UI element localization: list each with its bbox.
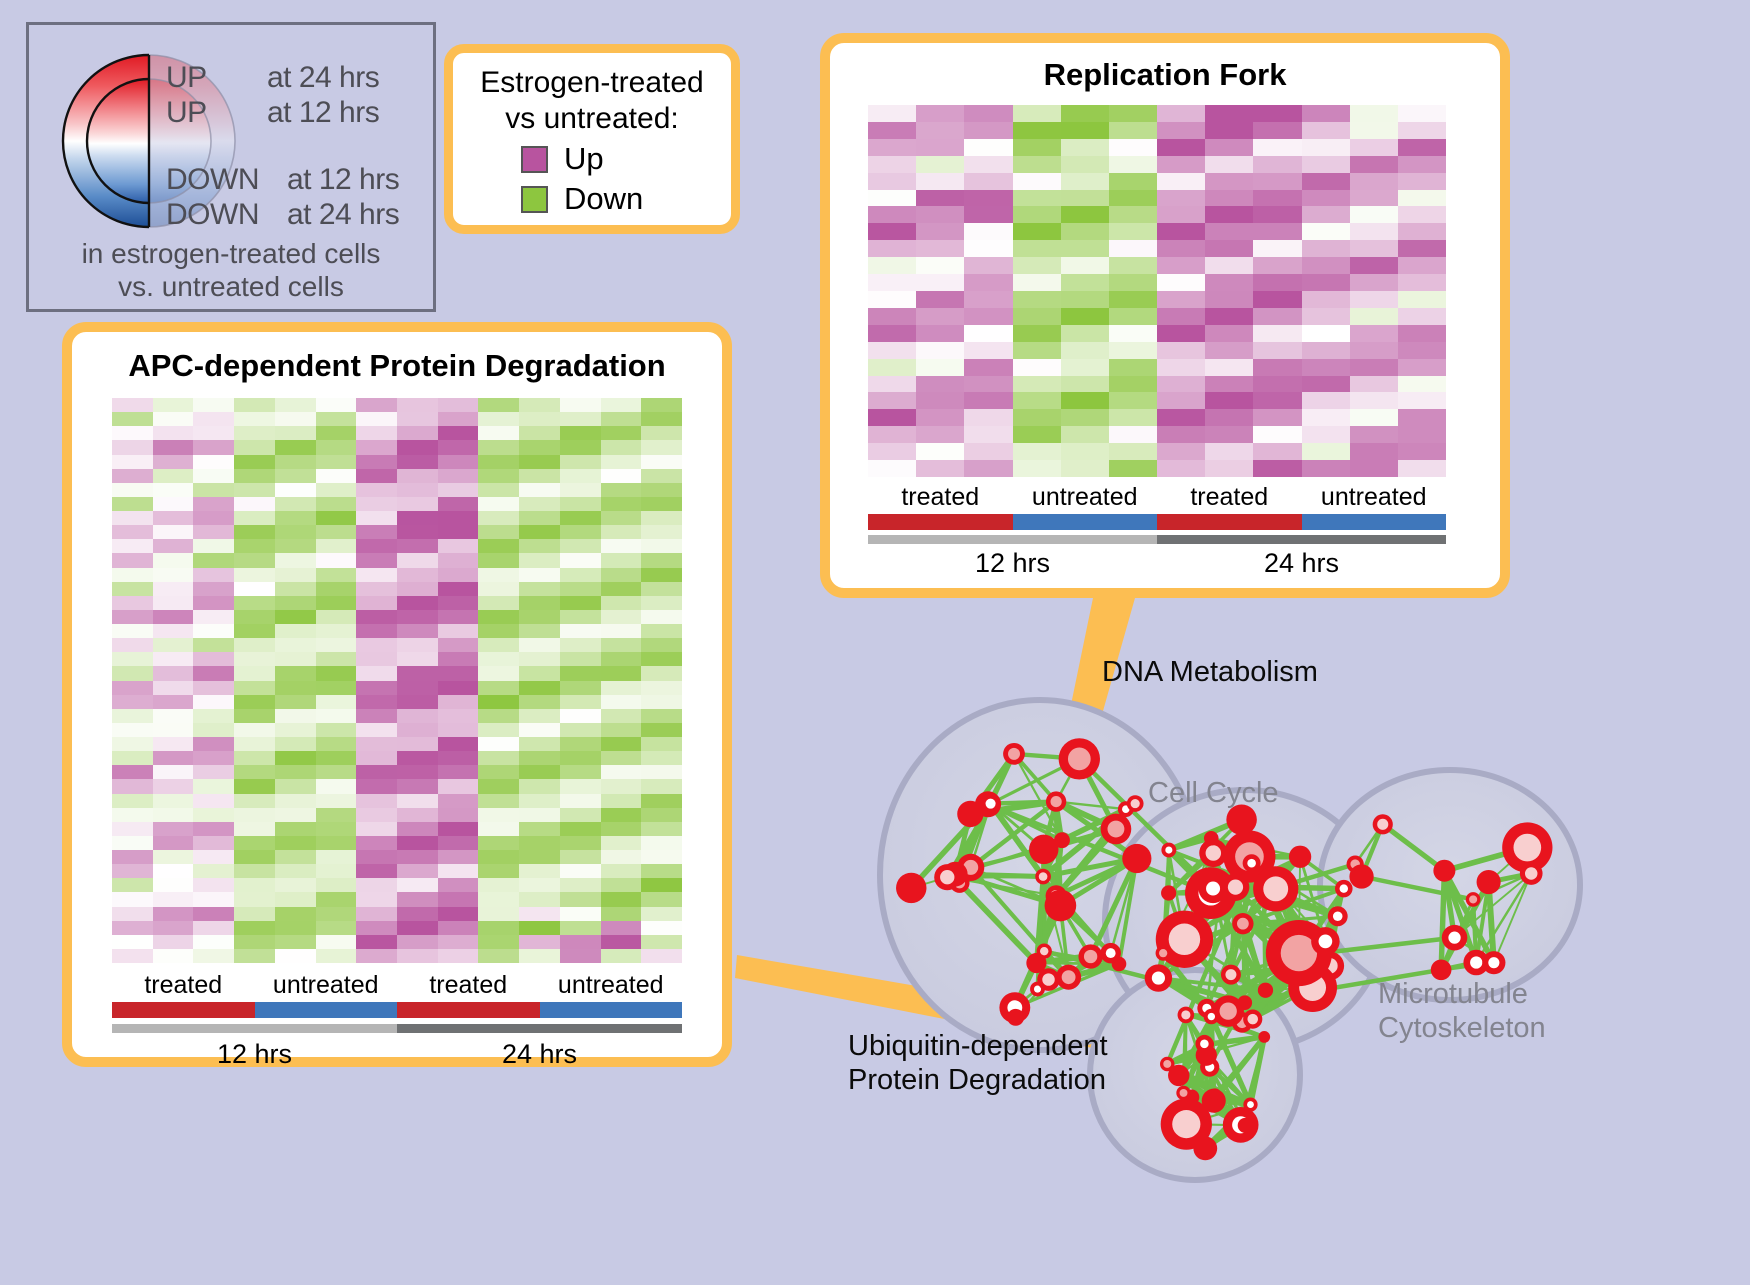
heatmap-cell <box>641 455 682 469</box>
heatmap-cell <box>356 709 397 723</box>
heatmap-cell <box>1302 206 1350 223</box>
heatmap-cell <box>275 681 316 695</box>
heatmap-replication-fork <box>868 105 1446 477</box>
heatmap-cell <box>1013 105 1061 122</box>
network-node[interactable] <box>1221 965 1241 985</box>
heatmap-cell <box>1253 223 1301 240</box>
heatmap-cell <box>438 949 479 963</box>
heatmap-cell <box>868 105 916 122</box>
heatmap-cell <box>1013 342 1061 359</box>
heatmap-cell <box>560 709 601 723</box>
heatmap-cell <box>1157 443 1205 460</box>
heatmap-cell <box>275 469 316 483</box>
node-inner-core <box>986 799 996 809</box>
heatmap-cell <box>519 935 560 949</box>
heatmap-cell <box>153 921 194 935</box>
network-node[interactable] <box>1156 946 1171 961</box>
heatmap-cell <box>275 878 316 892</box>
heatmap-cell <box>478 907 519 921</box>
network-node[interactable] <box>1204 1009 1219 1024</box>
node-inner-core <box>1333 911 1343 921</box>
heatmap-cell <box>234 638 275 652</box>
heatmap-cell <box>964 122 1012 139</box>
node-inner-core <box>1106 948 1116 958</box>
heatmap-cell <box>112 765 153 779</box>
heatmap-cell <box>153 850 194 864</box>
heatmap-cell <box>316 864 357 878</box>
heatmap-cell <box>964 392 1012 409</box>
network-node[interactable] <box>1477 870 1501 894</box>
heatmap-cell <box>519 568 560 582</box>
heatmap-cell <box>438 539 479 553</box>
network-node[interactable] <box>1168 1065 1189 1086</box>
heatmap-cell <box>868 359 916 376</box>
network-node[interactable] <box>1433 860 1455 882</box>
heatmap-cell <box>1157 173 1205 190</box>
heatmap-cell <box>275 836 316 850</box>
heatmap-cell <box>601 624 642 638</box>
network-node[interactable] <box>980 793 1001 814</box>
heatmap-cell <box>560 864 601 878</box>
heatmap-cell <box>153 483 194 497</box>
heatmap-cell <box>234 568 275 582</box>
heatmap-cell <box>438 935 479 949</box>
network-node[interactable] <box>1195 1035 1213 1053</box>
heatmap-cell <box>1302 460 1350 477</box>
heatmap-cell <box>1302 308 1350 325</box>
apc-title: APC-dependent Protein Degradation <box>72 348 722 384</box>
heatmap-cell <box>601 765 642 779</box>
heatmap-cell <box>478 836 519 850</box>
heatmap-cell <box>1398 426 1446 443</box>
network-node[interactable] <box>1101 814 1132 845</box>
heatmap-cell <box>193 469 234 483</box>
heatmap-cell <box>193 624 234 638</box>
heatmap-cell <box>560 511 601 525</box>
heatmap-cell <box>397 681 438 695</box>
heatmap-cell <box>868 308 916 325</box>
heatmap-cell <box>234 907 275 921</box>
heatmap-cell <box>964 291 1012 308</box>
heatmap-cell <box>868 409 916 426</box>
network-node[interactable] <box>1037 968 1060 991</box>
heatmap-cell <box>112 539 153 553</box>
heatmap-cell <box>1253 426 1301 443</box>
heatmap-cell <box>1253 308 1301 325</box>
heatmap-cell <box>601 497 642 511</box>
heatmap-cell <box>112 850 153 864</box>
heatmap-cell <box>316 596 357 610</box>
heatmap-cell <box>397 907 438 921</box>
heatmap-cell <box>478 553 519 567</box>
network-node[interactable] <box>1238 1118 1253 1133</box>
network-node[interactable] <box>1373 814 1393 834</box>
heatmap-cell <box>916 376 964 393</box>
heatmap-cell <box>397 737 438 751</box>
heatmap-cell <box>316 723 357 737</box>
heatmap-cell <box>316 610 357 624</box>
heatmap-cell <box>964 156 1012 173</box>
heatmap-cell <box>1013 443 1061 460</box>
heatmap-cell <box>234 539 275 553</box>
heatmap-cell <box>1157 240 1205 257</box>
network-node[interactable] <box>1349 864 1373 888</box>
network-node[interactable] <box>1222 873 1250 901</box>
heatmap-cell <box>1109 460 1157 477</box>
heatmap-cell <box>234 737 275 751</box>
heatmap-cell <box>316 553 357 567</box>
network-node[interactable] <box>1035 869 1051 885</box>
heatmap-cell <box>1302 173 1350 190</box>
heatmap-cell <box>601 794 642 808</box>
network-node[interactable] <box>1335 880 1353 898</box>
heatmap-cell <box>641 426 682 440</box>
node-inner-core <box>1169 924 1201 956</box>
group-label-1: untreated <box>255 971 398 1000</box>
network-node[interactable] <box>1209 1088 1221 1100</box>
network-node[interactable] <box>1466 892 1481 907</box>
heatmap-cell <box>438 666 479 680</box>
heatmap-cell <box>641 681 682 695</box>
heatmap-cell <box>275 850 316 864</box>
network-node[interactable] <box>1029 835 1058 864</box>
heatmap-cell <box>519 779 560 793</box>
node-inner-core <box>1159 949 1167 957</box>
heatmap-cell <box>478 808 519 822</box>
heatmap-cell <box>193 596 234 610</box>
heatmap-cell <box>438 398 479 412</box>
network-node[interactable] <box>1520 862 1543 885</box>
heatmap-cell <box>1398 139 1446 156</box>
heatmap-cell <box>868 156 916 173</box>
network-node[interactable] <box>934 864 960 890</box>
heatmap-cell <box>964 240 1012 257</box>
network-node[interactable] <box>1178 1007 1195 1024</box>
heatmap-cell <box>1061 223 1109 240</box>
heatmap-cell <box>397 426 438 440</box>
heatmap-cell <box>1109 308 1157 325</box>
node-inner-core <box>1206 845 1221 860</box>
heatmap-cell <box>560 568 601 582</box>
heatmap-cell <box>1109 291 1157 308</box>
heatmap-cell <box>1302 223 1350 240</box>
heatmap-cell <box>1205 308 1253 325</box>
heatmap-cell <box>1398 223 1446 240</box>
heatmap-cell <box>193 836 234 850</box>
heatmap-cell <box>275 794 316 808</box>
heatmap-cell <box>1061 156 1109 173</box>
node-inner-core <box>1225 969 1236 980</box>
heatmap-cell <box>193 709 234 723</box>
heatmap-cell <box>964 460 1012 477</box>
heatmap-cell <box>519 751 560 765</box>
network-node[interactable] <box>1311 927 1339 955</box>
heatmap-cell <box>397 666 438 680</box>
network-node[interactable] <box>1212 995 1244 1027</box>
heatmap-cell <box>519 666 560 680</box>
heatmap-cell <box>641 582 682 596</box>
heatmap-cell <box>1253 206 1301 223</box>
network-node[interactable] <box>1127 795 1144 812</box>
heatmap-cell <box>356 525 397 539</box>
heatmap-cell <box>193 949 234 963</box>
heatmap-cell <box>1061 139 1109 156</box>
heatmap-cell <box>519 553 560 567</box>
heatmap-cell <box>519 455 560 469</box>
network-node[interactable] <box>1100 943 1121 964</box>
heatmap-cell <box>560 440 601 454</box>
heatmap-cell <box>1253 274 1301 291</box>
heatmap-cell <box>964 308 1012 325</box>
network-node[interactable] <box>1046 791 1066 811</box>
heatmap-cell <box>641 850 682 864</box>
heatmap-cell <box>153 751 194 765</box>
heatmap-cell <box>1109 257 1157 274</box>
heatmap-cell <box>356 666 397 680</box>
heatmap-cell <box>356 935 397 949</box>
network-node[interactable] <box>1176 1086 1190 1100</box>
heatmap-cell <box>397 779 438 793</box>
network-node[interactable] <box>1243 854 1261 872</box>
circle-legend-footer: in estrogen-treated cells vs. untreated … <box>29 237 433 303</box>
heatmap-cell <box>478 794 519 808</box>
heatmap-cell <box>193 553 234 567</box>
heatmap-cell <box>316 511 357 525</box>
heatmap-cell <box>1109 392 1157 409</box>
heatmap-cell <box>356 850 397 864</box>
heatmap-cell <box>397 794 438 808</box>
heatmap-cell <box>1013 409 1061 426</box>
heatmap-cell <box>478 497 519 511</box>
heatmap-cell <box>1061 105 1109 122</box>
heatmap-cell <box>438 455 479 469</box>
heatmap-cell <box>397 935 438 949</box>
network-node[interactable] <box>1045 890 1077 922</box>
heatmap-cell <box>1157 105 1205 122</box>
heatmap-cell <box>601 483 642 497</box>
network-node[interactable] <box>1078 944 1102 968</box>
heatmap-cell <box>1157 122 1205 139</box>
network-node[interactable] <box>1059 738 1100 779</box>
network-node[interactable] <box>1243 1097 1257 1111</box>
heatmap-cell <box>1398 342 1446 359</box>
heatmap-cell <box>1061 257 1109 274</box>
node-inner-core <box>1247 859 1256 868</box>
heatmap-cell <box>1109 325 1157 342</box>
heatmap-cell <box>519 878 560 892</box>
heatmap-cell <box>193 455 234 469</box>
network-node[interactable] <box>1258 983 1273 998</box>
replication-group-labels: treated untreated treated untreated <box>868 483 1446 512</box>
heatmap-cell <box>964 342 1012 359</box>
heatmap-cell <box>478 525 519 539</box>
heatmap-cell <box>356 652 397 666</box>
heatmap-cell <box>519 610 560 624</box>
node-inner-core <box>1172 1110 1200 1138</box>
heatmap-cell <box>316 751 357 765</box>
heatmap-cell <box>478 652 519 666</box>
heatmap-cell <box>1350 359 1398 376</box>
heatmap-cell <box>356 864 397 878</box>
network-node[interactable] <box>1204 831 1219 846</box>
heatmap-cell <box>916 240 964 257</box>
heatmap-cell <box>397 610 438 624</box>
heatmap-cell <box>316 469 357 483</box>
heatmap-cell <box>1061 392 1109 409</box>
network-node[interactable] <box>1122 844 1151 873</box>
heatmap-cell <box>153 681 194 695</box>
heatmap-cell <box>234 921 275 935</box>
heatmap-cell <box>112 455 153 469</box>
heatmap-cell <box>112 935 153 949</box>
network-node[interactable] <box>1232 913 1253 934</box>
heatmap-cell <box>478 596 519 610</box>
node-inner-core <box>1051 796 1062 807</box>
heatmap-cell <box>316 907 357 921</box>
heatmap-cell <box>1253 460 1301 477</box>
network-node[interactable] <box>1482 951 1505 974</box>
heatmap-cell <box>1157 325 1205 342</box>
heatmap-cell <box>316 525 357 539</box>
heatmap-cell <box>1398 274 1446 291</box>
treatment-bar-treated-24 <box>1157 514 1302 530</box>
heatmap-cell <box>112 652 153 666</box>
heatmap-cell <box>193 525 234 539</box>
heatmap-cell <box>641 779 682 793</box>
heatmap-cell <box>112 822 153 836</box>
node-inner-core <box>1448 932 1460 944</box>
network-node[interactable] <box>1056 965 1081 990</box>
heatmap-cell <box>234 624 275 638</box>
heatmap-cell <box>641 808 682 822</box>
heatmap-cell <box>641 440 682 454</box>
heatmap-cell <box>1398 325 1446 342</box>
heatmap-cell <box>560 836 601 850</box>
heatmap-cell <box>478 638 519 652</box>
heatmap-cell <box>916 223 964 240</box>
heatmap-cell <box>438 553 479 567</box>
heatmap-cell <box>1061 342 1109 359</box>
heatmap-cell <box>1302 291 1350 308</box>
network-node[interactable] <box>1253 866 1298 911</box>
ring-note-up-24: at 24 hrs <box>267 61 379 95</box>
heatmap-cell <box>1205 223 1253 240</box>
heatmap-cell <box>275 596 316 610</box>
heatmap-cell <box>275 440 316 454</box>
node-inner-core <box>1377 819 1388 830</box>
heatmap-cell <box>356 497 397 511</box>
network-node[interactable] <box>957 801 983 827</box>
heatmap-cell <box>1157 392 1205 409</box>
heatmap-cell <box>356 426 397 440</box>
heatmap-cell <box>560 723 601 737</box>
estrogen-legend-title-line2: vs untreated: <box>453 101 731 137</box>
heatmap-cell <box>356 412 397 426</box>
node-inner-core <box>1208 1013 1215 1020</box>
network-node[interactable] <box>1243 1010 1262 1029</box>
heatmap-cell <box>478 864 519 878</box>
node-inner-core <box>940 870 954 884</box>
node-inner-core <box>1469 895 1477 903</box>
heatmap-cell <box>478 709 519 723</box>
heatmap-cell <box>478 469 519 483</box>
cluster-label-ubiquitin-line1: Ubiquitin-dependent <box>848 1030 1108 1064</box>
estrogen-legend-title: Estrogen-treated vs untreated: <box>453 65 731 137</box>
heatmap-cell <box>1205 359 1253 376</box>
heatmap-cell <box>478 779 519 793</box>
heatmap-cell <box>356 695 397 709</box>
group-label-2: treated <box>397 971 540 1000</box>
group-label-3: untreated <box>1302 483 1447 512</box>
heatmap-cell <box>1205 173 1253 190</box>
heatmap-cell <box>916 139 964 156</box>
heatmap-cell <box>868 122 916 139</box>
heatmap-cell <box>1061 409 1109 426</box>
heatmap-cell <box>601 398 642 412</box>
network-node[interactable] <box>1145 964 1172 991</box>
heatmap-cell <box>641 497 682 511</box>
heatmap-cell <box>916 308 964 325</box>
heatmap-cell <box>560 497 601 511</box>
heatmap-cell <box>112 737 153 751</box>
heatmap-cell <box>916 206 964 223</box>
network-node[interactable] <box>1003 743 1025 765</box>
heatmap-cell <box>519 497 560 511</box>
heatmap-cell <box>234 850 275 864</box>
heatmap-cell <box>193 610 234 624</box>
heatmap-cell <box>560 850 601 864</box>
node-inner-core <box>1152 971 1165 984</box>
network-node[interactable] <box>1007 1009 1024 1026</box>
heatmap-cell <box>316 709 357 723</box>
heatmap-cell <box>1253 173 1301 190</box>
heatmap-cell <box>964 359 1012 376</box>
heatmap-cell <box>1157 190 1205 207</box>
heatmap-cell <box>356 455 397 469</box>
heatmap-cell <box>601 539 642 553</box>
heatmap-cell <box>1398 240 1446 257</box>
treatment-bar-untreated-12 <box>255 1002 398 1018</box>
heatmap-cell <box>193 511 234 525</box>
network-node[interactable] <box>1442 925 1468 951</box>
heatmap-cell <box>1398 105 1446 122</box>
group-label-0: treated <box>112 971 255 1000</box>
heatmap-cell <box>1157 291 1205 308</box>
network-node[interactable] <box>1161 885 1176 900</box>
heatmap-cell <box>193 892 234 906</box>
heatmap-cell <box>964 206 1012 223</box>
heatmap-cell <box>1253 122 1301 139</box>
network-node[interactable] <box>1289 846 1311 868</box>
heatmap-cell <box>964 274 1012 291</box>
heatmap-cell <box>519 398 560 412</box>
network-node[interactable] <box>896 873 926 903</box>
heatmap-cell <box>1109 206 1157 223</box>
network-node[interactable] <box>1193 1136 1217 1160</box>
heatmap-cell <box>560 455 601 469</box>
ring-note-up-12: at 12 hrs <box>267 96 379 130</box>
heatmap-cell <box>519 892 560 906</box>
heatmap-cell <box>397 723 438 737</box>
heatmap-cell <box>112 511 153 525</box>
network-node[interactable] <box>1161 843 1176 858</box>
heatmap-cell <box>1013 359 1061 376</box>
network-node[interactable] <box>1258 1031 1270 1043</box>
heatmap-cell <box>916 443 964 460</box>
heatmap-cell <box>1205 376 1253 393</box>
heatmap-cell <box>478 765 519 779</box>
network-node[interactable] <box>1328 906 1348 926</box>
